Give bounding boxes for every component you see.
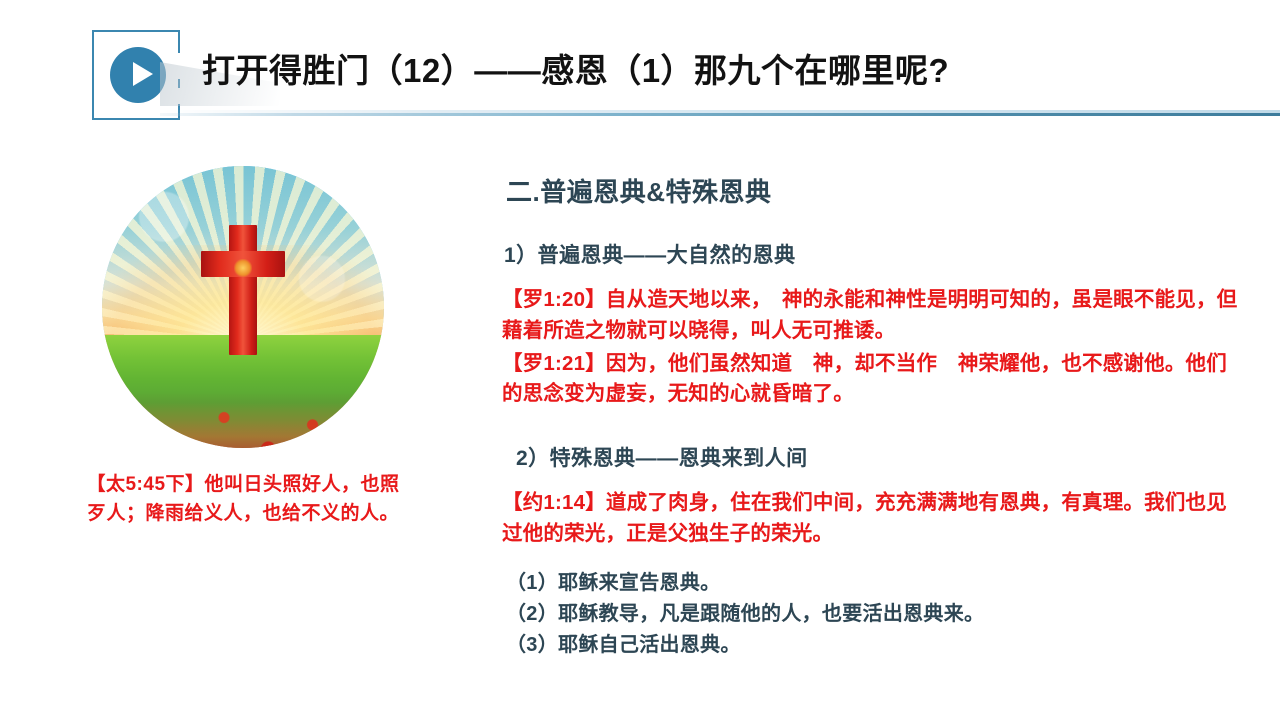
cross-icon	[229, 225, 257, 355]
points-list: （1）耶稣来宣告恩典。 （2）耶稣教导，凡是跟随他的人，也要活出恩典来。 （3）…	[506, 568, 1240, 661]
photo-caption: 【太5:45下】他叫日头照好人，也照歹人；降雨给义人，也给不义的人。	[78, 470, 408, 529]
section-heading: 二.普遍恩典&特殊恩典	[506, 172, 1240, 209]
cross-sunrise-field-photo	[102, 166, 384, 448]
right-column: 二.普遍恩典&特殊恩典 1）普遍恩典——大自然的恩典 【罗1:20】自从造天地以…	[500, 166, 1240, 661]
list-item: （2）耶稣教导，凡是跟随他的人，也要活出恩典来。	[506, 599, 1240, 630]
slide-header: 打开得胜门（12）——感恩（1）那九个在哪里呢?	[0, 0, 1280, 130]
list-item: （3）耶稣自己活出恩典。	[506, 630, 1240, 661]
left-column: 【太5:45下】他叫日头照好人，也照歹人；降雨给义人，也给不义的人。	[78, 166, 408, 529]
cross-emblem	[234, 259, 252, 277]
photo-flowers	[102, 392, 384, 448]
presentation-slide: 打开得胜门（12）——感恩（1）那九个在哪里呢? 【太5:45下】他叫日头照好人…	[0, 0, 1280, 720]
scripture-romans-1-21: 【罗1:21】因为，他们虽然知道 神，却不当作 神荣耀他，也不感谢他。他们的思念…	[502, 349, 1240, 411]
frame-notch-lower	[176, 88, 184, 104]
scripture-john-1-14: 【约1:14】道成了肉身，住在我们中间，充充满满地有恩典，有真理。我们也见过他的…	[502, 488, 1240, 550]
frame-notch-upper	[176, 53, 184, 79]
header-divider	[160, 113, 1280, 116]
list-item: （1）耶稣来宣告恩典。	[506, 568, 1240, 599]
subsection-1-label: 1）普遍恩典——大自然的恩典	[504, 239, 1240, 269]
page-title: 打开得胜门（12）——感恩（1）那九个在哪里呢?	[202, 44, 949, 92]
subsection-2-label: 2）特殊恩典——恩典来到人间	[516, 442, 1240, 472]
play-icon[interactable]	[133, 62, 153, 86]
scripture-romans-1-20: 【罗1:20】自从造天地以来， 神的永能和神性是明明可知的，虽是眼不能见，但藉着…	[502, 285, 1240, 347]
